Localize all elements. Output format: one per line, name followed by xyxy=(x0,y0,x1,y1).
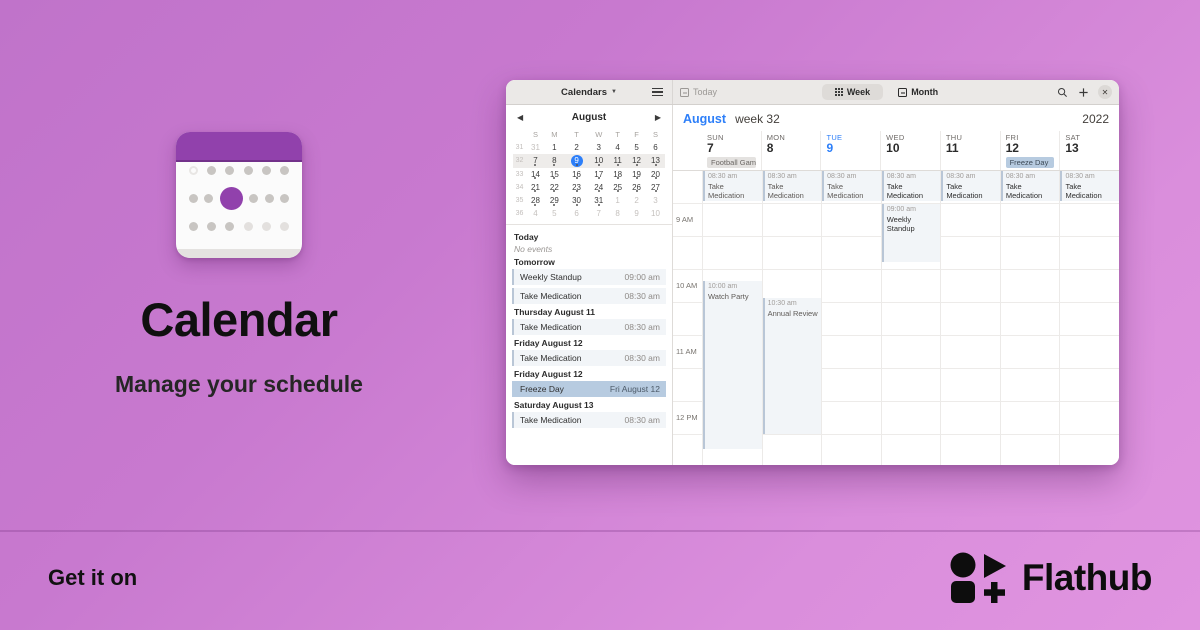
mini-day-cell[interactable]: 9 xyxy=(564,154,589,167)
icon-dot xyxy=(280,194,289,203)
mini-day-cell[interactable]: 6 xyxy=(646,141,665,154)
icon-dot xyxy=(262,166,271,175)
week-day-number: 10 xyxy=(886,142,935,156)
event-name: Take Medication xyxy=(1065,182,1116,201)
grid-slot[interactable] xyxy=(882,402,941,435)
calendars-menu-label[interactable]: Calendars xyxy=(561,87,607,98)
event-name: Take Medication xyxy=(768,182,819,201)
icon-dot-row xyxy=(189,166,289,175)
week-day-name: SUN xyxy=(707,133,756,142)
grid-slot[interactable] xyxy=(763,237,822,270)
mini-day-cell[interactable]: 17 xyxy=(589,168,608,181)
view-switcher: Week Month xyxy=(822,84,951,100)
time-slot-label xyxy=(673,303,702,336)
icon-dot xyxy=(262,222,271,231)
mini-day-cell[interactable]: 20 xyxy=(646,168,665,181)
mini-week-number: 33 xyxy=(513,168,526,181)
mini-day-cell[interactable]: 25 xyxy=(608,181,627,194)
mini-day-cell[interactable]: 11 xyxy=(608,154,627,167)
week-day-number: 9 xyxy=(826,142,875,156)
week-year-label: 2022 xyxy=(1082,112,1109,126)
mini-day-cell[interactable]: 31 xyxy=(589,194,608,207)
grid-slot[interactable] xyxy=(703,204,762,237)
agenda-event-row[interactable]: Weekly Standup09:00 am xyxy=(512,269,666,285)
mini-weekday-header: T xyxy=(564,128,589,141)
all-day-slot[interactable] xyxy=(886,157,935,167)
mini-day-cell[interactable]: 10 xyxy=(589,154,608,167)
grid-slot[interactable] xyxy=(1060,435,1119,465)
week-label: Week xyxy=(847,87,870,97)
icon-dot xyxy=(189,222,198,231)
mini-day-cell[interactable]: 26 xyxy=(627,181,646,194)
grid-slot[interactable] xyxy=(822,369,881,402)
sidebar: ◀ August ▶ SMTWTFS 313112345632789101112… xyxy=(506,105,673,465)
grid-slot[interactable] xyxy=(1060,369,1119,402)
mini-weekday-header: T xyxy=(608,128,627,141)
mini-day-cell[interactable]: 1 xyxy=(608,194,627,207)
mini-calendar: SMTWTFS 31311234563278910111213331415161… xyxy=(506,128,672,224)
event-name: Take Medication xyxy=(827,182,878,201)
grid-slot[interactable] xyxy=(941,369,1000,402)
grid-slot[interactable] xyxy=(1001,435,1060,465)
icon-dot-row xyxy=(189,194,289,203)
flathub-logo: Flathub xyxy=(950,552,1152,604)
event-time: 08:30 am xyxy=(827,173,878,182)
all-day-slot[interactable] xyxy=(767,157,816,167)
week-col-header xyxy=(513,128,526,141)
event-name: Take Medication xyxy=(946,182,997,201)
mini-day-cell[interactable]: 9 xyxy=(627,207,646,220)
grid-slot[interactable] xyxy=(822,303,881,336)
mini-day-cell[interactable]: 16 xyxy=(564,168,589,181)
week-day-name: TUE xyxy=(826,133,875,142)
event-time: 08:30 am xyxy=(887,173,938,182)
all-day-slot[interactable] xyxy=(1065,157,1114,167)
mini-weekday-header: S xyxy=(646,128,665,141)
mini-week-number: 32 xyxy=(513,154,526,167)
grid-slot[interactable] xyxy=(941,435,1000,465)
sidebar-headerbar: Calendars ▼ xyxy=(506,80,673,104)
event-name: Take Medication xyxy=(1006,182,1057,201)
agenda-event-row[interactable]: Take Medication08:30 am xyxy=(512,350,666,366)
icon-dot xyxy=(189,194,198,203)
next-month-icon[interactable]: ▶ xyxy=(655,113,661,122)
calendar-event[interactable]: 08:30 amTake Medication xyxy=(703,171,762,201)
mini-day-cell[interactable]: 19 xyxy=(627,168,646,181)
footer-divider xyxy=(0,530,1200,532)
week-grid-icon xyxy=(835,88,843,96)
mini-week-row: 3645678910 xyxy=(513,207,665,220)
agenda-list: TodayNo eventsTomorrowWeekly Standup09:0… xyxy=(506,224,672,465)
calendar-event[interactable]: 08:30 amTake Medication xyxy=(822,171,881,201)
today-label: Today xyxy=(693,87,717,97)
grid-slot[interactable] xyxy=(822,402,881,435)
icon-dot-grid xyxy=(176,166,302,231)
day-column[interactable]: 08:30 amTake Medication09:00 amWeekly St… xyxy=(881,171,941,465)
week-day-headers: SUN7Football GameMON8TUE9WED10THU11FRI12… xyxy=(673,131,1119,171)
time-slot-label xyxy=(673,270,702,303)
icon-dot-row xyxy=(189,222,289,231)
calendar-event[interactable]: 09:00 amWeekly Standup xyxy=(882,204,941,262)
mini-week-number: 31 xyxy=(513,141,526,154)
mini-day-cell[interactable]: 3 xyxy=(589,141,608,154)
all-day-slot[interactable]: Football Game xyxy=(707,157,756,167)
calendar-event[interactable]: 08:30 amTake Medication xyxy=(763,171,822,201)
month-label: Month xyxy=(911,87,938,97)
icon-base-band xyxy=(176,249,302,258)
agenda-event-time: 09:00 am xyxy=(625,272,660,282)
icon-dot xyxy=(280,166,289,175)
week-day-number: 7 xyxy=(707,142,756,156)
mini-day-cell[interactable]: 6 xyxy=(564,207,589,220)
all-day-event[interactable]: Football Game xyxy=(707,157,756,168)
page-title: Calendar xyxy=(140,296,337,343)
week-day-header[interactable]: MON8 xyxy=(761,131,821,170)
mini-day-cell[interactable]: 14 xyxy=(526,168,545,181)
grid-slot[interactable] xyxy=(1060,303,1119,336)
day-column[interactable]: 08:30 amTake Medication xyxy=(940,171,1000,465)
time-slot-label xyxy=(673,402,702,435)
week-day-header[interactable]: TUE9 xyxy=(820,131,880,170)
agenda-event-time: 08:30 am xyxy=(625,291,660,301)
icon-dot xyxy=(207,166,216,175)
week-day-number: 12 xyxy=(1006,142,1055,156)
icon-dot xyxy=(244,166,253,175)
calendar-event[interactable]: 08:30 amTake Medication xyxy=(882,171,941,201)
mini-week-row: 3314151617181920 xyxy=(513,168,665,181)
page-tagline: Manage your schedule xyxy=(115,371,363,398)
agenda-event-name: Take Medication xyxy=(520,291,581,301)
grid-slot[interactable] xyxy=(941,402,1000,435)
time-slot-label xyxy=(673,204,702,237)
icon-dot-highlighted xyxy=(220,187,243,210)
grid-slot[interactable] xyxy=(1060,237,1119,270)
grid-slot[interactable] xyxy=(1001,303,1060,336)
mini-day-cell[interactable]: 31 xyxy=(526,141,545,154)
grid-slot[interactable] xyxy=(822,237,881,270)
main-headerbar: Today Week Month ✕ xyxy=(673,80,1119,104)
search-icon[interactable] xyxy=(1056,86,1068,98)
mini-day-cell[interactable]: 23 xyxy=(564,181,589,194)
mini-weekday-header: F xyxy=(627,128,646,141)
hamburger-menu-icon[interactable] xyxy=(652,88,663,96)
mini-weekday-header: W xyxy=(589,128,608,141)
calendar-app-icon xyxy=(176,132,302,258)
month-icon xyxy=(898,88,907,97)
window-controls: ✕ xyxy=(1056,85,1112,99)
agenda-section-header: Saturday August 13 xyxy=(514,400,664,410)
week-month-label[interactable]: August xyxy=(683,112,726,126)
mini-day-cell[interactable]: 4 xyxy=(526,207,545,220)
mini-day-cell[interactable]: 5 xyxy=(627,141,646,154)
mini-day-cell[interactable]: 7 xyxy=(589,207,608,220)
event-name: Take Medication xyxy=(708,182,759,201)
event-time: 10:30 am xyxy=(768,300,819,309)
calendar-event[interactable]: 08:30 amTake Medication xyxy=(941,171,1000,201)
icon-dot xyxy=(225,222,234,231)
mini-day-cell[interactable]: 8 xyxy=(608,207,627,220)
grid-slot[interactable] xyxy=(1060,204,1119,237)
icon-dot xyxy=(189,166,198,175)
grid-slot[interactable] xyxy=(1001,204,1060,237)
week-day-header[interactable]: SAT13 xyxy=(1059,131,1119,170)
mini-day-cell[interactable]: 12 xyxy=(627,154,646,167)
flathub-mark-icon xyxy=(950,552,1008,604)
mini-week-row: 3131123456 xyxy=(513,141,665,154)
agenda-section-header: Friday August 12 xyxy=(514,369,664,379)
mini-day-cell[interactable]: 8 xyxy=(545,154,564,167)
event-name: Watch Party xyxy=(708,292,759,301)
event-time: 08:30 am xyxy=(1065,173,1116,182)
mini-day-cell[interactable]: 5 xyxy=(545,207,564,220)
mini-day-cell[interactable]: 29 xyxy=(545,194,564,207)
mini-day-cell[interactable]: 28 xyxy=(526,194,545,207)
icon-dot xyxy=(204,194,213,203)
time-slot-label xyxy=(673,336,702,369)
window-body: ◀ August ▶ SMTWTFS 313112345632789101112… xyxy=(506,105,1119,465)
mini-day-cell[interactable]: 22 xyxy=(545,181,564,194)
agenda-event-time: 08:30 am xyxy=(625,353,660,363)
icon-dot xyxy=(280,222,289,231)
mini-day-cell[interactable]: 27 xyxy=(646,181,665,194)
day-column[interactable]: 08:30 amTake Medication xyxy=(821,171,881,465)
week-day-header[interactable]: WED10 xyxy=(880,131,940,170)
agenda-event-name: Weekly Standup xyxy=(520,272,582,282)
event-time: 08:30 am xyxy=(1006,173,1057,182)
mini-week-number: 36 xyxy=(513,207,526,220)
icon-dot xyxy=(225,166,234,175)
all-day-event[interactable]: Freeze Day xyxy=(1006,157,1055,168)
grid-slot[interactable] xyxy=(1001,402,1060,435)
agenda-empty-label: No events xyxy=(514,244,664,254)
event-time: 09:00 am xyxy=(887,206,938,215)
icon-header-band xyxy=(176,132,302,162)
mini-weekday-header: S xyxy=(526,128,545,141)
agenda-event-name: Take Medication xyxy=(520,322,581,332)
agenda-event-row[interactable]: Take Medication08:30 am xyxy=(512,412,666,428)
grid-slot[interactable] xyxy=(941,270,1000,303)
promo-panel: Calendar Manage your schedule xyxy=(0,0,478,530)
grid-slot[interactable] xyxy=(882,270,941,303)
day-column[interactable]: 08:30 amTake Medication xyxy=(1059,171,1119,465)
grid-slot[interactable] xyxy=(822,336,881,369)
mini-day-cell[interactable]: 4 xyxy=(608,141,627,154)
grid-slot[interactable] xyxy=(882,369,941,402)
time-slot-label xyxy=(673,435,702,465)
time-slot-label xyxy=(673,369,702,402)
grid-slot[interactable] xyxy=(882,336,941,369)
week-number-label: week 32 xyxy=(735,112,780,126)
event-name: Annual Review xyxy=(768,309,819,318)
mini-day-cell[interactable]: 13 xyxy=(646,154,665,167)
week-grid: 08:30 amTake Medication10:00 amWatch Par… xyxy=(673,171,1119,465)
mini-day-cell[interactable]: 2 xyxy=(627,194,646,207)
event-name: Weekly Standup xyxy=(887,215,938,234)
grid-slot[interactable] xyxy=(1001,369,1060,402)
agenda-event-row[interactable]: Take Medication08:30 am xyxy=(512,319,666,335)
agenda-section-header: Today xyxy=(514,232,664,242)
mini-day-cell[interactable]: 7 xyxy=(526,154,545,167)
tab-week[interactable]: Week xyxy=(822,84,883,100)
chevron-down-icon[interactable]: ▼ xyxy=(611,89,617,95)
grid-slot[interactable] xyxy=(1001,237,1060,270)
all-day-slot[interactable]: Freeze Day xyxy=(1006,157,1055,167)
mini-week-row: 3278910111213 xyxy=(513,154,665,167)
agenda-event-name: Take Medication xyxy=(520,353,581,363)
calendar-event[interactable]: 08:30 amTake Medication xyxy=(1060,171,1119,201)
agenda-section-header: Tomorrow xyxy=(514,257,664,267)
flathub-wordmark: Flathub xyxy=(1022,557,1152,599)
icon-dot xyxy=(207,222,216,231)
icon-dot xyxy=(265,194,274,203)
mini-week-row: 3421222324252627 xyxy=(513,181,665,194)
agenda-event-time: 08:30 am xyxy=(625,322,660,332)
prev-month-icon[interactable]: ◀ xyxy=(517,113,523,122)
event-name: Take Medication xyxy=(887,182,938,201)
week-day-name: MON xyxy=(767,133,816,142)
mini-day-cell[interactable]: 21 xyxy=(526,181,545,194)
grid-slot[interactable] xyxy=(941,237,1000,270)
grid-slot[interactable] xyxy=(763,435,822,465)
mini-calendar-body: 3131123456327891011121333141516171819203… xyxy=(513,141,665,220)
calendar-event[interactable]: 10:00 amWatch Party xyxy=(703,281,762,449)
grid-slot[interactable] xyxy=(1060,402,1119,435)
mini-day-cell[interactable]: 2 xyxy=(564,141,589,154)
day-column[interactable]: 08:30 amTake Medication xyxy=(1000,171,1060,465)
week-day-header[interactable]: THU11 xyxy=(940,131,1000,170)
mini-calendar-month: August xyxy=(572,112,606,123)
grid-slot[interactable] xyxy=(822,270,881,303)
grid-slot[interactable] xyxy=(941,336,1000,369)
grid-slot[interactable] xyxy=(1060,336,1119,369)
grid-slot[interactable] xyxy=(703,237,762,270)
week-grid-scroll[interactable]: 08:30 amTake Medication10:00 amWatch Par… xyxy=(673,171,1119,465)
all-day-slot[interactable] xyxy=(826,157,875,167)
event-time: 08:30 am xyxy=(708,173,759,182)
grid-slot[interactable] xyxy=(822,204,881,237)
add-event-icon[interactable] xyxy=(1077,86,1089,98)
event-time: 08:30 am xyxy=(946,173,997,182)
time-slot-label xyxy=(673,171,702,204)
get-it-on-label: Get it on xyxy=(48,565,137,591)
mini-week-row: 3528293031123 xyxy=(513,194,665,207)
grid-slot[interactable] xyxy=(822,435,881,465)
calendar-event[interactable]: 10:30 amAnnual Review xyxy=(763,298,822,434)
grid-slot[interactable] xyxy=(882,303,941,336)
week-view: August week 32 2022 SUN7Football GameMON… xyxy=(673,105,1119,465)
time-gutter xyxy=(673,171,702,465)
today-button[interactable]: Today xyxy=(680,87,717,97)
close-icon[interactable]: ✕ xyxy=(1098,85,1112,99)
agenda-event-row[interactable]: Take Medication08:30 am xyxy=(512,288,666,304)
week-day-header[interactable]: FRI12Freeze Day xyxy=(1000,131,1060,170)
calendar-event[interactable]: 08:30 amTake Medication xyxy=(1001,171,1060,201)
mini-day-cell[interactable]: 30 xyxy=(564,194,589,207)
mini-weekday-header: M xyxy=(545,128,564,141)
mini-day-cell[interactable]: 3 xyxy=(646,194,665,207)
agenda-event-time: 08:30 am xyxy=(625,415,660,425)
icon-dot xyxy=(249,194,258,203)
mini-week-number: 35 xyxy=(513,194,526,207)
grid-slot[interactable] xyxy=(1001,336,1060,369)
week-day-number: 11 xyxy=(946,142,995,156)
week-view-title: August week 32 2022 xyxy=(673,105,1119,131)
mini-day-cell[interactable]: 24 xyxy=(589,181,608,194)
week-day-header[interactable]: SUN7Football Game xyxy=(702,131,761,170)
today-icon xyxy=(680,88,689,97)
window-headerbar: Calendars ▼ Today Week Month xyxy=(506,80,1119,105)
agenda-section-header: Friday August 12 xyxy=(514,338,664,348)
week-day-number: 13 xyxy=(1065,142,1114,156)
mini-day-cell[interactable]: 18 xyxy=(608,168,627,181)
grid-slot[interactable] xyxy=(763,204,822,237)
agenda-event-row[interactable]: Freeze DayFri August 12 xyxy=(512,381,666,397)
icon-dot xyxy=(244,222,253,231)
grid-slot[interactable] xyxy=(882,435,941,465)
mini-calendar-table: SMTWTFS 31311234563278910111213331415161… xyxy=(513,128,665,220)
agenda-section-header: Thursday August 11 xyxy=(514,307,664,317)
mini-day-cell[interactable]: 1 xyxy=(545,141,564,154)
mini-week-number: 34 xyxy=(513,181,526,194)
event-time: 08:30 am xyxy=(768,173,819,182)
mini-calendar-header-row: SMTWTFS xyxy=(513,128,665,141)
calendar-app-window: Calendars ▼ Today Week Month xyxy=(506,80,1119,465)
grid-slot[interactable] xyxy=(941,303,1000,336)
grid-slot[interactable] xyxy=(1001,270,1060,303)
agenda-event-name: Take Medication xyxy=(520,415,581,425)
event-time: 10:00 am xyxy=(708,283,759,292)
time-slot-label xyxy=(673,237,702,270)
all-day-slot[interactable] xyxy=(946,157,995,167)
agenda-event-time: Fri August 12 xyxy=(610,384,660,394)
mini-calendar-nav: ◀ August ▶ xyxy=(506,105,672,128)
tab-month[interactable]: Month xyxy=(885,84,951,100)
grid-slot[interactable] xyxy=(1060,270,1119,303)
day-columns: 08:30 amTake Medication10:00 amWatch Par… xyxy=(702,171,1119,465)
grid-slot[interactable] xyxy=(941,204,1000,237)
mini-day-cell[interactable]: 10 xyxy=(646,207,665,220)
week-day-number: 8 xyxy=(767,142,816,156)
day-column[interactable]: 08:30 amTake Medication10:30 amAnnual Re… xyxy=(762,171,822,465)
agenda-event-name: Freeze Day xyxy=(520,384,564,394)
day-column[interactable]: 08:30 amTake Medication10:00 amWatch Par… xyxy=(702,171,762,465)
mini-day-cell[interactable]: 15 xyxy=(545,168,564,181)
mini-day-selected: 9 xyxy=(571,155,583,167)
